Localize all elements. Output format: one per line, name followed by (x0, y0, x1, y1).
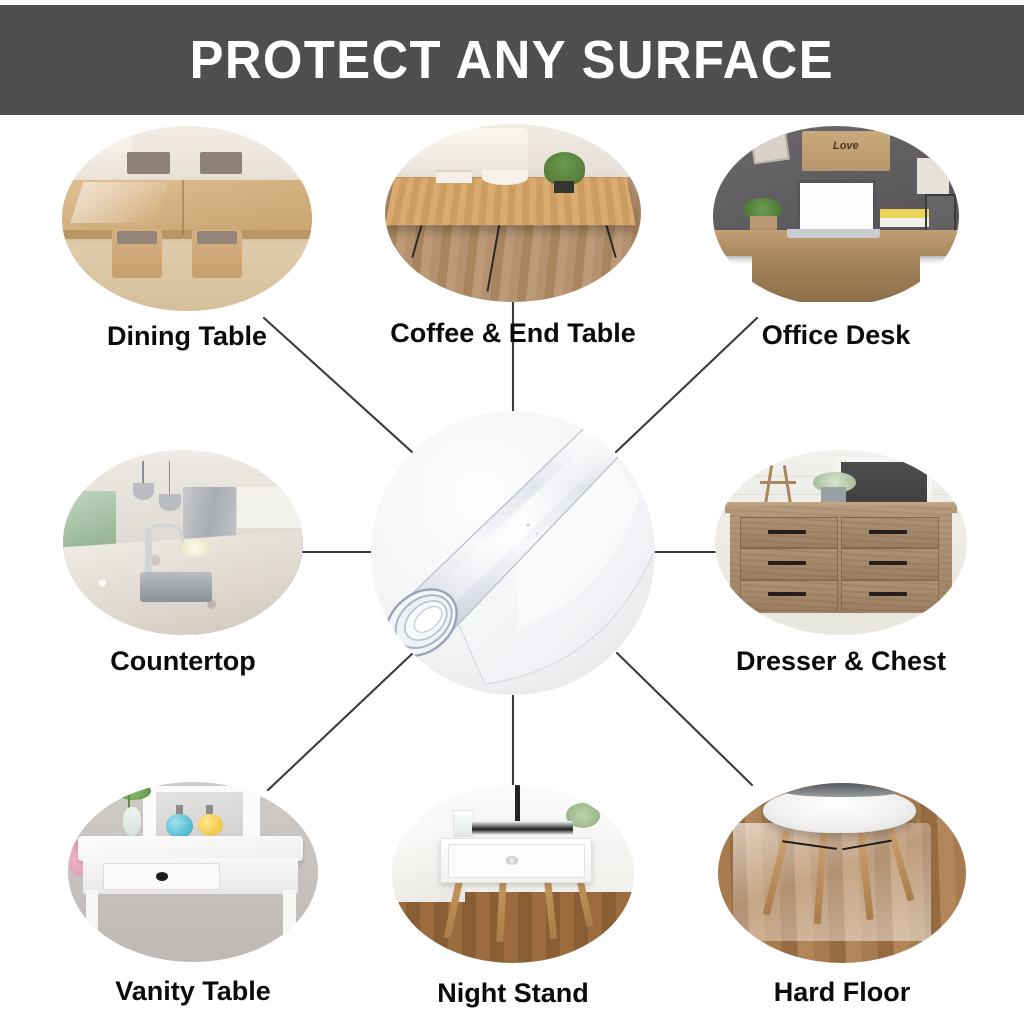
dresser-chest-label: Dresser & Chest (715, 648, 967, 675)
feature-coffee-end-table[interactable]: Coffee & End Table (385, 124, 641, 354)
dresser-chest-photo-oval (715, 450, 967, 635)
night-stand-label: Night Stand (392, 980, 634, 1007)
office-desk-photo: Love (713, 126, 959, 306)
hard-floor-photo (718, 783, 966, 963)
vanity-table-label: Vanity Table (68, 978, 318, 1005)
office-desk-photo-oval: Love (713, 126, 959, 306)
page-title: PROTECT ANY SURFACE (190, 33, 834, 87)
center-product-node[interactable] (371, 411, 655, 695)
center-product-circle (371, 411, 655, 695)
vanity-table-photo-oval (68, 782, 318, 962)
love-sign-text: Love (811, 140, 880, 152)
header-banner: PROTECT ANY SURFACE (0, 5, 1024, 115)
feature-dresser-chest[interactable]: Dresser & Chest (715, 450, 967, 685)
coffee-end-table-label: Coffee & End Table (385, 320, 641, 347)
feature-hard-floor[interactable]: Hard Floor (718, 783, 966, 1018)
night-stand-photo-oval (392, 785, 634, 963)
countertop-photo-oval (63, 450, 303, 635)
coffee-end-table-photo-oval (385, 124, 641, 302)
pvc-roll-illustration (371, 411, 655, 695)
feature-dining-table[interactable]: Dining Table (62, 126, 312, 356)
dining-table-photo (62, 126, 312, 311)
office-desk-label: Office Desk (713, 322, 959, 349)
hard-floor-label: Hard Floor (718, 979, 966, 1006)
dining-table-photo-oval (62, 126, 312, 311)
feature-countertop[interactable]: Countertop (63, 450, 303, 685)
countertop-photo (63, 450, 303, 635)
dining-table-label: Dining Table (62, 323, 312, 350)
hard-floor-photo-oval (718, 783, 966, 963)
vanity-table-photo (68, 782, 318, 962)
night-stand-photo (392, 785, 634, 963)
feature-night-stand[interactable]: Night Stand (392, 785, 634, 1020)
dresser-chest-photo (715, 450, 967, 635)
coffee-end-table-photo (385, 124, 641, 302)
countertop-label: Countertop (63, 648, 303, 675)
feature-vanity-table[interactable]: Vanity Table (68, 782, 318, 1017)
feature-office-desk[interactable]: Love Office Desk (713, 126, 959, 356)
